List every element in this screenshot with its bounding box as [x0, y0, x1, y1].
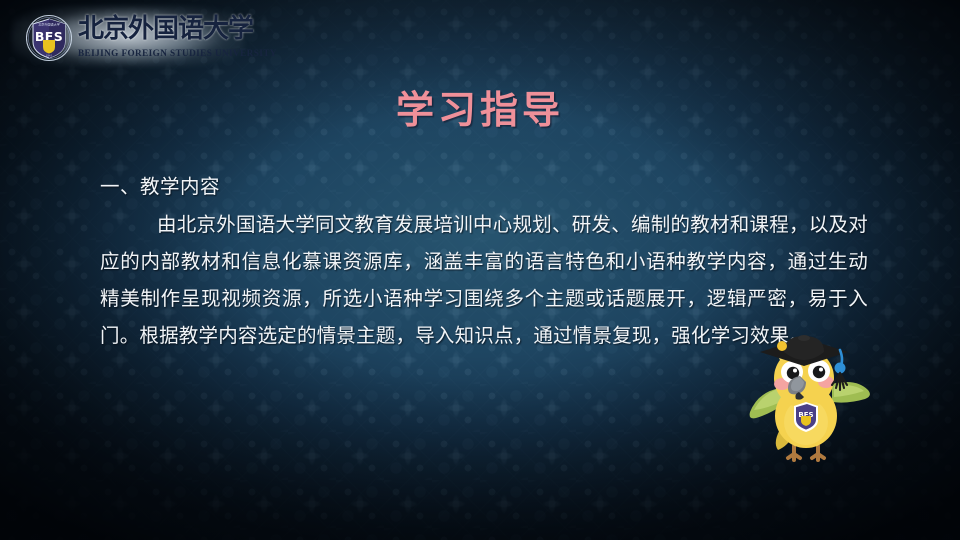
svg-text:1941: 1941	[46, 54, 53, 57]
presentation-slide: 北京外国语大学 BFS 1941 北京外国语大学 BEIJING FOREIGN…	[0, 0, 960, 540]
slide-body: 一、教学内容 由北京外国语大学同文教育发展培训中心规划、研发、编制的教材和课程，…	[100, 168, 868, 354]
logo-chinese-name: 北京外国语大学	[78, 12, 244, 46]
svg-text:北京外国语大学: 北京外国语大学	[38, 22, 60, 27]
university-logo: 北京外国语大学 BFS 1941 北京外国语大学 BEIJING FOREIGN…	[8, 4, 248, 68]
content-heading: 一、教学内容	[100, 168, 868, 205]
logo-english-name: BEIJING FOREIGN STUDIES UNIVERSITY	[78, 48, 248, 58]
graduate-parrot-mascot-icon: BFS	[744, 330, 876, 470]
paragraph-text: 由北京外国语大学同文教育发展培训中心规划、研发、编制的教材和课程，以及对应的内部…	[100, 213, 868, 347]
bfs-shield-icon: 北京外国语大学 BFS 1941	[26, 13, 72, 63]
slide-title: 学习指导	[0, 79, 960, 134]
